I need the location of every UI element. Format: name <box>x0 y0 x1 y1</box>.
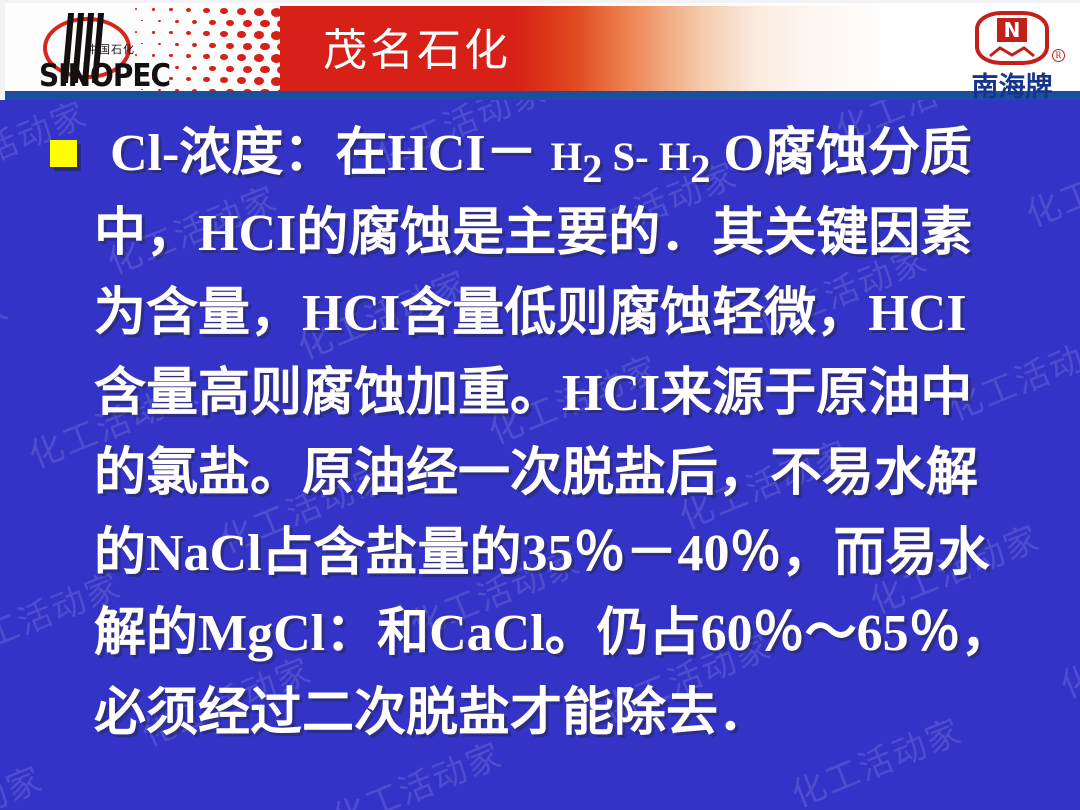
halftone-dot <box>186 54 191 58</box>
halftone-dot <box>243 43 252 50</box>
halftone-dot <box>237 54 246 61</box>
halftone-dot <box>260 66 270 74</box>
halftone-dot <box>271 31 282 40</box>
halftone-dot <box>271 77 282 86</box>
text-line-8: 必须经过二次脱盐才能除去． <box>42 674 1038 754</box>
halftone-dot <box>226 66 234 72</box>
bullet-paragraph-line-1: Cl-浓度：在HCI－ H2 S- H2 O腐蚀分质 <box>42 114 1038 194</box>
halftone-dot <box>220 54 228 60</box>
text-line-3: 为含量，HCI含量低则腐蚀轻微，HCI <box>42 274 1038 354</box>
halftone-dot <box>152 31 155 34</box>
line-1-segment: H <box>659 134 691 179</box>
square-bullet-icon <box>50 140 77 167</box>
slide-header-banner: 中国石化 SINOPEC 茂名石化 N R 南海牌 <box>0 0 1080 100</box>
halftone-dot <box>209 20 216 25</box>
text-line-6: 的NaCl占含盐量的35％－40％，而易水 <box>42 514 1038 594</box>
halftone-dot <box>192 43 197 47</box>
halftone-dot <box>158 43 161 46</box>
nanhai-n-letter: N <box>997 18 1027 42</box>
halftone-dot <box>237 77 246 84</box>
halftone-dot <box>277 66 288 75</box>
halftone-dot <box>203 8 210 13</box>
text-line-5: 的氯盐。原油经一次脱盐后，不易水解 <box>42 434 1038 514</box>
halftone-dot <box>254 77 264 85</box>
halftone-dot <box>277 43 288 52</box>
halftone-dot <box>203 77 210 82</box>
registered-trademark-icon: R <box>1052 49 1065 62</box>
halftone-dot <box>260 43 270 51</box>
halftone-dot <box>209 66 216 71</box>
halftone-dot <box>237 31 246 38</box>
halftone-dot <box>243 66 252 73</box>
text-line-4: 含量高则腐蚀加重。HCI来源于原油中 <box>42 354 1038 434</box>
line-1-segment: 2 <box>582 146 602 191</box>
slide-text-content: Cl-浓度：在HCI－ H2 S- H2 O腐蚀分质 中，HCI的腐蚀是主要的．… <box>0 100 1080 754</box>
halftone-dot <box>175 20 179 23</box>
halftone-dot <box>271 54 282 63</box>
line-1-segment: H <box>551 134 583 179</box>
watermark-text: 化工活动家 <box>974 789 1080 810</box>
halftone-dot <box>254 31 264 39</box>
halftone-dot <box>186 8 191 12</box>
halftone-dot <box>192 20 197 24</box>
halftone-dot <box>220 31 228 37</box>
sinopec-wordmark: SINOPEC <box>39 57 170 94</box>
halftone-dot <box>152 8 155 11</box>
halftone-dot <box>169 8 173 11</box>
line-1-segment: Cl-浓度：在HCI－ <box>110 125 551 182</box>
halftone-dot <box>237 8 246 15</box>
halftone-dot <box>135 8 137 10</box>
sinopec-logo: 中国石化 SINOPEC <box>31 13 151 95</box>
nanhai-brand-logo: N R 南海牌 <box>953 9 1071 97</box>
halftone-dot <box>175 43 179 46</box>
nanhai-chinese-label: 南海牌 <box>953 65 1071 100</box>
halftone-dot <box>203 54 210 59</box>
line-1-segment: 2 <box>690 146 710 191</box>
text-line-7: 解的MgCl：和CaCl。仍占60％～65％， <box>42 594 1038 674</box>
halftone-dot <box>220 8 228 14</box>
halftone-dot <box>192 66 197 70</box>
nanhai-wave-icon <box>989 45 1035 59</box>
halftone-dot <box>175 66 179 69</box>
halftone-dot <box>254 54 264 62</box>
header-title: 茂名石化 <box>323 21 511 81</box>
sinopec-chinese-label: 中国石化 <box>87 41 135 57</box>
halftone-dot <box>203 31 210 36</box>
halftone-dot <box>254 8 264 16</box>
halftone-dot <box>158 20 161 23</box>
halftone-dot <box>186 31 191 35</box>
line-1-segment: S- <box>602 134 658 179</box>
halftone-dot <box>277 20 288 29</box>
halftone-dot <box>243 20 252 27</box>
halftone-dot <box>260 20 270 28</box>
halftone-dot <box>271 8 282 17</box>
text-line-2: 中，HCI的腐蚀是主要的．其关键因素 <box>42 194 1038 274</box>
halftone-dot <box>186 77 191 81</box>
halftone-dot <box>226 20 234 26</box>
halftone-dot <box>169 31 173 34</box>
halftone-dot <box>209 43 216 48</box>
slide-body: 化工活动家化工活动家化工活动家化工活动家化工活动家化工活动家化工活动家化工活动家… <box>0 100 1080 810</box>
halftone-dot <box>226 43 234 49</box>
watermark-text: 化工活动家 <box>0 752 49 810</box>
line-1-text: Cl-浓度：在HCI－ H2 S- H2 O腐蚀分质 <box>110 125 972 182</box>
line-1-segment: O腐蚀分质 <box>711 125 972 182</box>
slide: 中国石化 SINOPEC 茂名石化 N R 南海牌 化工活动家化工活动家化工活动… <box>0 0 1080 810</box>
halftone-dot <box>220 77 228 83</box>
